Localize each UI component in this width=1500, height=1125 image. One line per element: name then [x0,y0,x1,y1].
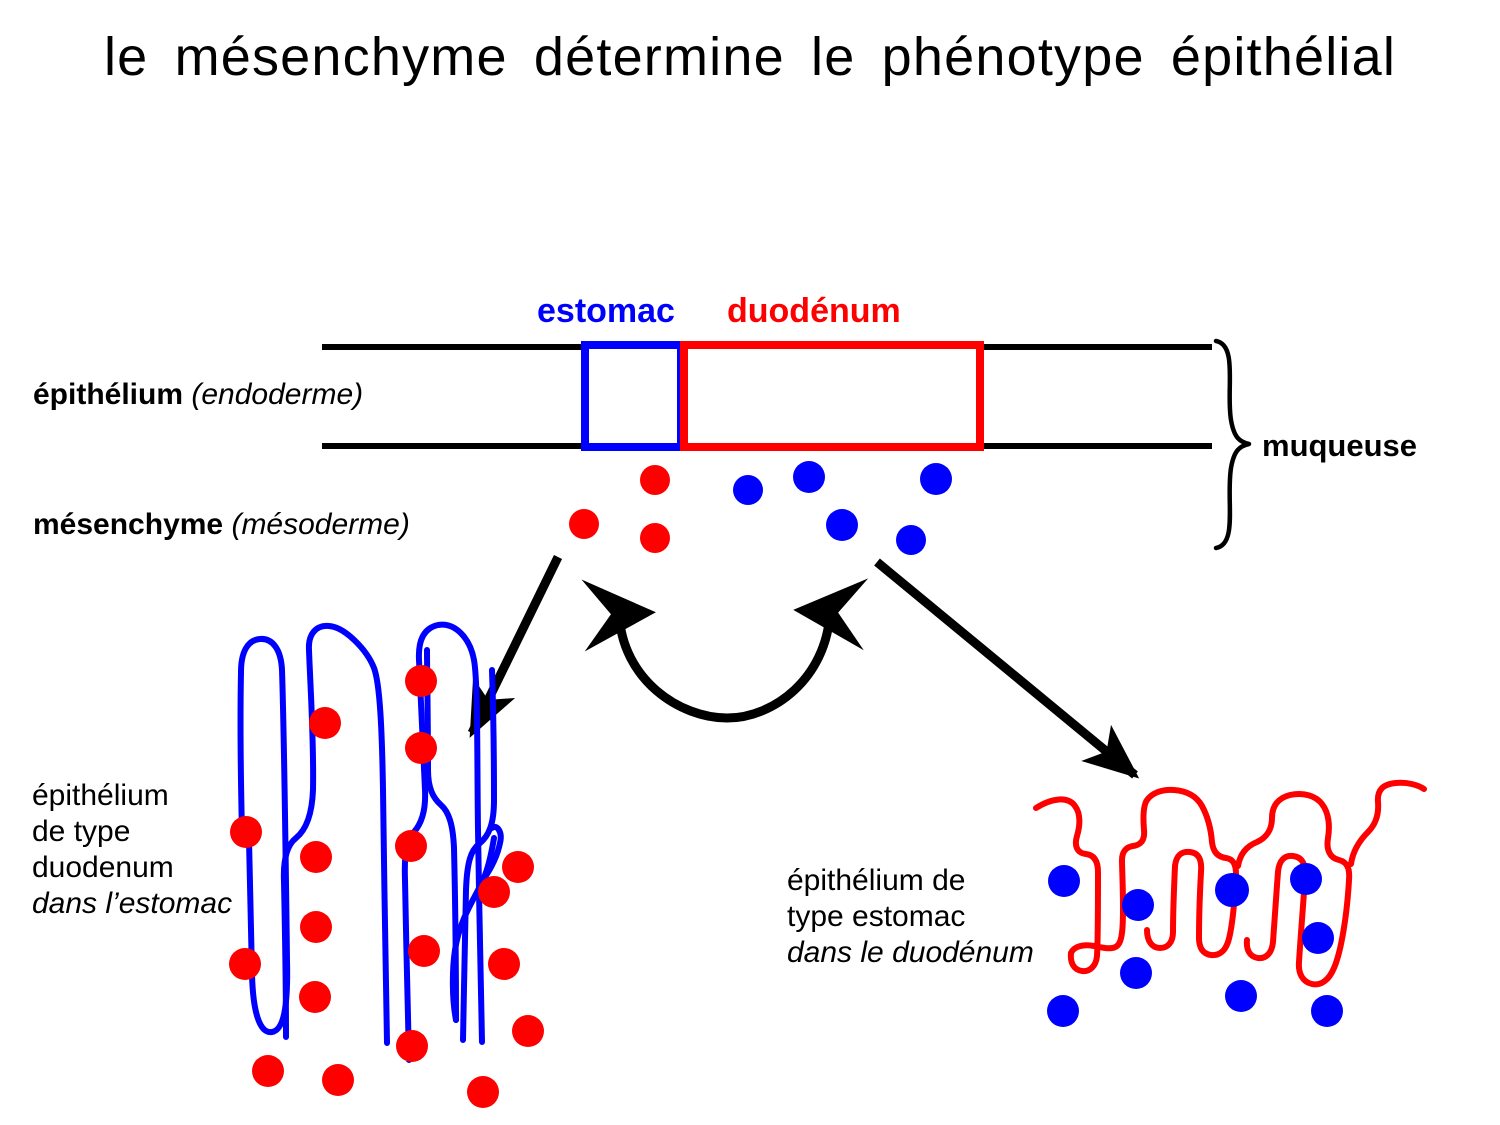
gastric-pit-3-inner [1247,872,1278,958]
mesenchyme-dot-blue [896,525,926,555]
mesenchyme-dot-red [405,732,437,764]
mesenchyme-dot-blue [1290,863,1322,895]
muqueuse-brace [1216,341,1249,548]
mesenchyme-dot-blue [1215,873,1249,907]
mesenchyme-dot-blue [826,509,858,541]
mesenchyme-dot-blue [1311,995,1343,1027]
epithelium-band [322,347,1212,446]
mesenchyme-dot-blue [1302,922,1334,954]
duodenum-region-box [684,345,980,447]
mesenchyme-dot-red [478,876,510,908]
villus-blue-branch-fork [453,838,494,1020]
mesenchyme-dot-red [322,1064,354,1096]
mesenchyme-dot-blue [920,463,952,495]
mesenchyme-dot-blue [1225,980,1257,1012]
mesenchyme-dot-red [299,981,331,1013]
mesenchyme-dot-blue [1122,889,1154,921]
mesenchyme-dot-red [488,948,520,980]
mesenchyme-dot-red [569,509,599,539]
mesenchyme-dot-red [640,465,670,495]
gastric-surface-right [1351,783,1424,864]
mesenchyme-dot-red [309,707,341,739]
mesenchyme-dot-blue [1120,957,1152,989]
mesenchyme-dot-red [300,841,332,873]
mesenchyme-dot-blue [793,461,825,493]
mesenchyme-dot-red [408,935,440,967]
arrow-to-left-panel [472,557,558,733]
mesenchyme-dot-red [502,851,534,883]
diagram-artwork [0,0,1500,1125]
mesenchyme-dot-red [640,523,670,553]
villus-blue-2 [284,626,387,1043]
mesenchyme-dot-blue [1048,865,1080,897]
mesenchyme-dot-red [512,1015,544,1047]
mesenchyme-dot-red [396,1030,428,1062]
mesenchyme-dot-red [252,1055,284,1087]
mesenchyme-dot-group-top [569,461,952,555]
mesenchyme-dot-red [467,1076,499,1108]
mesenchyme-dot-red [405,665,437,697]
mesenchyme-dot-red [395,830,427,862]
arrow-reciprocal-swap [619,613,830,718]
mesenchyme-dot-blue [733,475,763,505]
mesenchyme-dot-red [229,948,261,980]
villi-group-blue [241,625,501,1060]
diagram-canvas: le mésenchyme détermine le phénotype épi… [0,0,1500,1125]
mesenchyme-dot-red [300,911,332,943]
arrow-to-right-panel [877,562,1135,775]
mesenchyme-dot-blue [1047,995,1079,1027]
stomach-region-box [585,345,681,447]
mesenchyme-dot-red [230,816,262,848]
